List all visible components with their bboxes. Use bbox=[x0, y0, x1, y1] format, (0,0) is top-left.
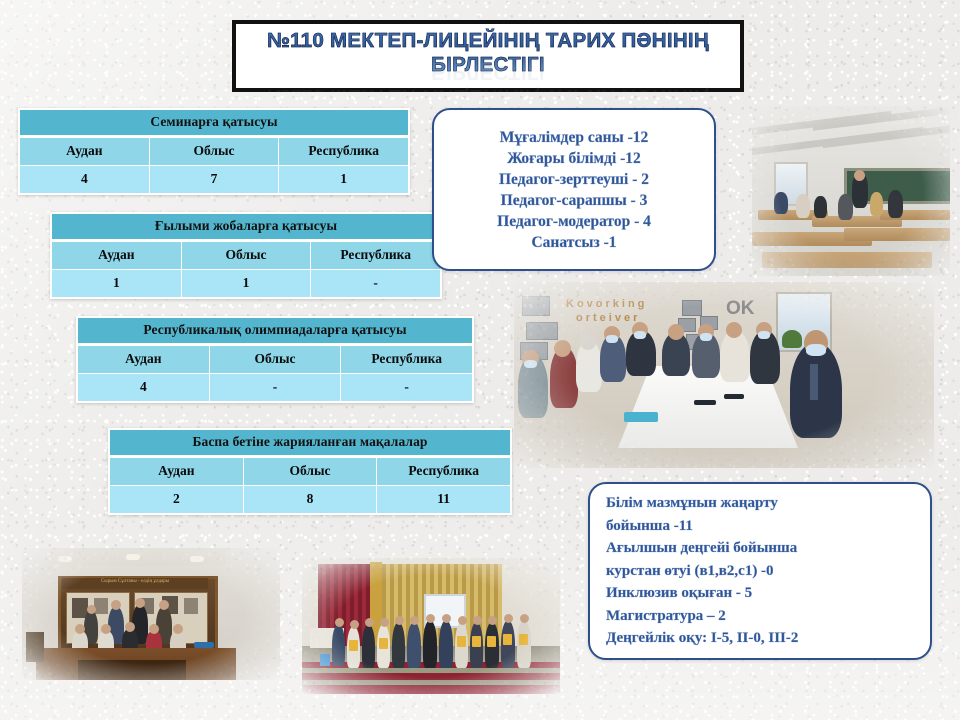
cell-oblys: - bbox=[210, 374, 342, 401]
table-data-row: 2 8 11 bbox=[110, 485, 510, 513]
stat-table-republican-olympiads: Республикалық олимпиадаларға қатысуы Ауд… bbox=[76, 316, 474, 403]
museum-banner-text: Сырым Сұлтаны - елдің ұлдары bbox=[62, 578, 208, 589]
table-data-row: 1 1 - bbox=[52, 269, 440, 297]
cell-oblys: 7 bbox=[150, 166, 280, 193]
cell-respublika: 11 bbox=[377, 486, 510, 513]
cell-oblys: 1 bbox=[182, 270, 312, 297]
cell-audan: 4 bbox=[78, 374, 210, 401]
column-header-oblys: Облыс bbox=[244, 458, 378, 485]
column-header-oblys: Облыс bbox=[150, 138, 280, 165]
cell-respublika: 1 bbox=[279, 166, 408, 193]
table-data-row: 4 - - bbox=[78, 373, 472, 401]
photo-award-ceremony bbox=[302, 558, 560, 694]
cell-respublika: - bbox=[341, 374, 472, 401]
table-title: Республикалық олимпиадаларға қатысуы bbox=[78, 318, 472, 346]
column-header-oblys: Облыс bbox=[210, 346, 342, 373]
staff-line-2: Жоғары білімді -12 bbox=[507, 148, 641, 169]
cell-respublika: - bbox=[311, 270, 440, 297]
courses-line-4: курстан өтуі (в1,в2,с1) -0 bbox=[606, 560, 914, 583]
cell-audan: 2 bbox=[110, 486, 244, 513]
table-header-row: Аудан Облыс Республика bbox=[20, 138, 408, 165]
table-header-row: Аудан Облыс Республика bbox=[52, 242, 440, 269]
presentation-slide: №110 МЕКТЕП-ЛИЦЕЙІНІҢ ТАРИХ ПӘНІНІҢ БІРЛ… bbox=[0, 0, 960, 720]
courses-line-3: Ағылшын деңгейі бойынша bbox=[606, 537, 914, 560]
staff-line-4: Педагог-сарапшы - 3 bbox=[501, 190, 648, 211]
column-header-oblys: Облыс bbox=[182, 242, 312, 269]
column-header-audan: Аудан bbox=[52, 242, 182, 269]
table-title: Баспа бетіне жарияланған мақалалар bbox=[110, 430, 510, 458]
table-data-row: 4 7 1 bbox=[20, 165, 408, 193]
cell-audan: 4 bbox=[20, 166, 150, 193]
column-header-respublika: Республика bbox=[279, 138, 408, 165]
staff-line-6: Санатсыз -1 bbox=[531, 232, 616, 253]
photo-school-museum: Сырым Сұлтаны - елдің ұлдары bbox=[22, 548, 280, 680]
table-header-row: Аудан Облыс Республика bbox=[78, 346, 472, 373]
column-header-respublika: Республика bbox=[377, 458, 510, 485]
table-title: Семинарға қатысуы bbox=[20, 110, 408, 138]
staff-statistics-box: Мұғалімдер саны -12 Жоғары білімді -12 П… bbox=[432, 108, 716, 271]
wall-decor-text-2: orteiver bbox=[576, 312, 640, 324]
wall-decor-text-1: Kovorking bbox=[566, 298, 647, 310]
courses-line-1: Білім мазмұнын жаңарту bbox=[606, 492, 914, 515]
staff-line-5: Педагог-модератор - 4 bbox=[497, 211, 651, 232]
courses-statistics-box: Білім мазмұнын жаңарту бойынша -11 Ағылш… bbox=[588, 482, 932, 660]
courses-line-2: бойынша -11 bbox=[606, 515, 914, 538]
table-title: Ғылыми жобаларға қатысуы bbox=[52, 214, 440, 242]
photo-teachers-round-table: Kovorking orteiver OK bbox=[514, 282, 934, 468]
courses-line-6: Магистратура – 2 bbox=[606, 605, 914, 628]
photo-classroom-lesson bbox=[752, 106, 950, 276]
column-header-audan: Аудан bbox=[20, 138, 150, 165]
column-header-audan: Аудан bbox=[78, 346, 210, 373]
staff-line-1: Мұғалімдер саны -12 bbox=[500, 127, 648, 148]
stat-table-published-articles: Баспа бетіне жарияланған мақалалар Аудан… bbox=[108, 428, 512, 515]
cell-audan: 1 bbox=[52, 270, 182, 297]
column-header-respublika: Республика bbox=[341, 346, 472, 373]
wall-decor-text-ok: OK bbox=[726, 298, 755, 320]
column-header-audan: Аудан bbox=[110, 458, 244, 485]
courses-line-5: Инклюзив оқыған - 5 bbox=[606, 582, 914, 605]
cell-oblys: 8 bbox=[244, 486, 378, 513]
slide-title: №110 МЕКТЕП-ЛИЦЕЙІНІҢ ТАРИХ ПӘНІНІҢ БІРЛ… bbox=[246, 29, 730, 77]
column-header-respublika: Республика bbox=[311, 242, 440, 269]
slide-title-box: №110 МЕКТЕП-ЛИЦЕЙІНІҢ ТАРИХ ПӘНІНІҢ БІРЛ… bbox=[232, 20, 744, 92]
stat-table-seminar-participation: Семинарға қатысуы Аудан Облыс Республика… bbox=[18, 108, 410, 195]
staff-line-3: Педагог-зерттеуші - 2 bbox=[499, 169, 649, 190]
courses-line-7: Деңгейлік оқу: I-5, II-0, III-2 bbox=[606, 627, 914, 650]
stat-table-scientific-projects: Ғылыми жобаларға қатысуы Аудан Облыс Рес… bbox=[50, 212, 442, 299]
table-header-row: Аудан Облыс Республика bbox=[110, 458, 510, 485]
